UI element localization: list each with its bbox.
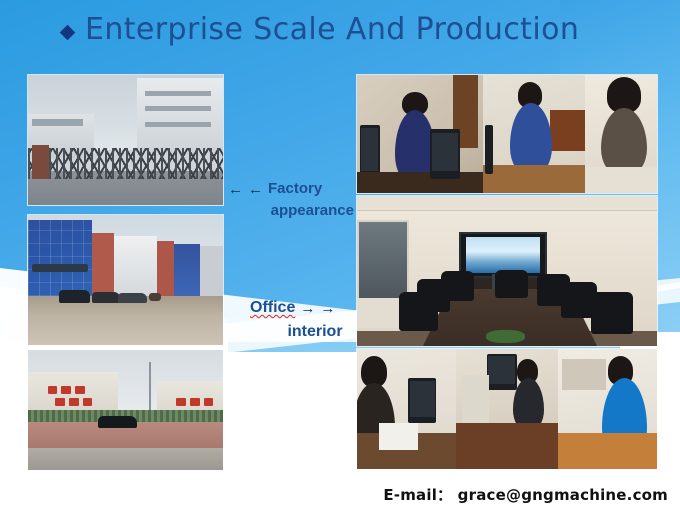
photo-monitor-screen — [488, 356, 515, 384]
photo-road — [28, 296, 223, 345]
photo-desk — [456, 423, 558, 469]
photo-motorbike — [149, 293, 161, 301]
photo-office-scene — [357, 75, 483, 193]
photo-window — [357, 220, 409, 302]
photo-monitor — [408, 378, 436, 424]
photo-desk — [357, 172, 483, 193]
photo-gate — [28, 148, 223, 179]
annotation-office-line2: interior — [250, 320, 370, 344]
photo-monitor-screen — [410, 381, 434, 417]
photo-gate-post — [32, 145, 50, 179]
photo-monitor — [485, 125, 493, 175]
photo-slogan-character — [48, 386, 58, 394]
photo-window-row — [145, 91, 211, 96]
photo-window-row — [145, 122, 211, 127]
photo-slogan-character — [69, 398, 79, 406]
arrow-left-icon: ← — [248, 182, 263, 197]
photo-office-staff-strip-bottom — [357, 349, 657, 469]
arrow-right-icon: → — [320, 301, 335, 316]
photo-factory-wall-slogan — [28, 350, 223, 470]
photo-monitor — [487, 354, 518, 390]
annotation-office-interior: Office → → interior — [250, 296, 370, 344]
photo-shelf — [562, 359, 606, 390]
photo-meeting-room — [357, 196, 657, 346]
photo-monitor — [360, 125, 380, 179]
photo-window-row — [145, 106, 211, 111]
photo-office-staff-strip-top — [357, 75, 657, 193]
photo-slogan-character — [204, 398, 214, 406]
photo-wall-left — [28, 372, 118, 415]
photo-slogan-character — [75, 386, 85, 394]
photo-window-row — [32, 119, 83, 126]
photo-car — [92, 292, 119, 304]
photo-office-scene — [585, 75, 657, 193]
photo-desk — [585, 167, 657, 193]
photo-white-block — [114, 236, 157, 296]
photo-slogan-character — [55, 398, 65, 406]
annotation-factory-line2: appearance — [228, 200, 358, 222]
photo-car — [98, 416, 137, 428]
arrow-right-icon: → — [300, 301, 315, 316]
diamond-bullet-icon — [60, 24, 76, 40]
photo-chair — [591, 292, 633, 334]
page-title-text: Enterprise Scale And Production — [85, 8, 579, 52]
photo-office-scene — [357, 349, 456, 469]
slide-canvas: Enterprise Scale And Production — [0, 0, 680, 518]
photo-chair — [399, 292, 438, 331]
photo-chair — [441, 271, 474, 301]
photo-office-scene — [483, 75, 585, 193]
photo-building-right — [137, 78, 223, 153]
photo-desk — [483, 165, 585, 193]
photo-entrance-awning — [32, 264, 89, 272]
photo-road — [28, 448, 223, 470]
photo-factory-exterior-gate — [28, 75, 223, 205]
photo-slogan-character — [83, 398, 93, 406]
photo-car — [59, 290, 90, 303]
photo-slogan-character — [190, 398, 200, 406]
photo-document — [379, 423, 419, 449]
page-title: Enterprise Scale And Production — [62, 8, 579, 52]
photo-office-scene — [456, 349, 558, 469]
photo-blue-block — [174, 244, 199, 296]
photo-office-scene — [558, 349, 657, 469]
photo-slogan-character — [176, 398, 186, 406]
photo-monitor — [430, 129, 460, 179]
photo-desk — [558, 433, 657, 469]
annotation-office-line1: Office — [250, 296, 295, 320]
photo-wood-shelf — [550, 110, 585, 150]
photo-monitor-screen — [361, 128, 379, 170]
contact-email: E-mail： grace@gngmachine.com — [0, 484, 668, 505]
photo-light-pole — [149, 362, 151, 412]
photo-factory-blue-glass-building — [28, 215, 223, 345]
photo-chair — [495, 270, 528, 299]
photo-grey-block — [200, 246, 223, 295]
photo-ceiling — [357, 196, 657, 211]
photo-red-block — [92, 233, 113, 295]
photo-blue-facade-mullions — [28, 220, 92, 295]
annotation-factory-appearance: ← ← Factory appearance — [228, 178, 358, 222]
photo-car — [118, 293, 147, 303]
photo-monitor-screen — [432, 133, 459, 172]
photo-slogan-character — [61, 386, 71, 394]
annotation-factory-line1: Factory — [268, 178, 322, 200]
photo-display-screen — [466, 237, 540, 272]
photo-table-plant — [486, 330, 525, 344]
photo-red-block — [157, 241, 175, 296]
arrow-left-icon: ← — [228, 182, 243, 197]
